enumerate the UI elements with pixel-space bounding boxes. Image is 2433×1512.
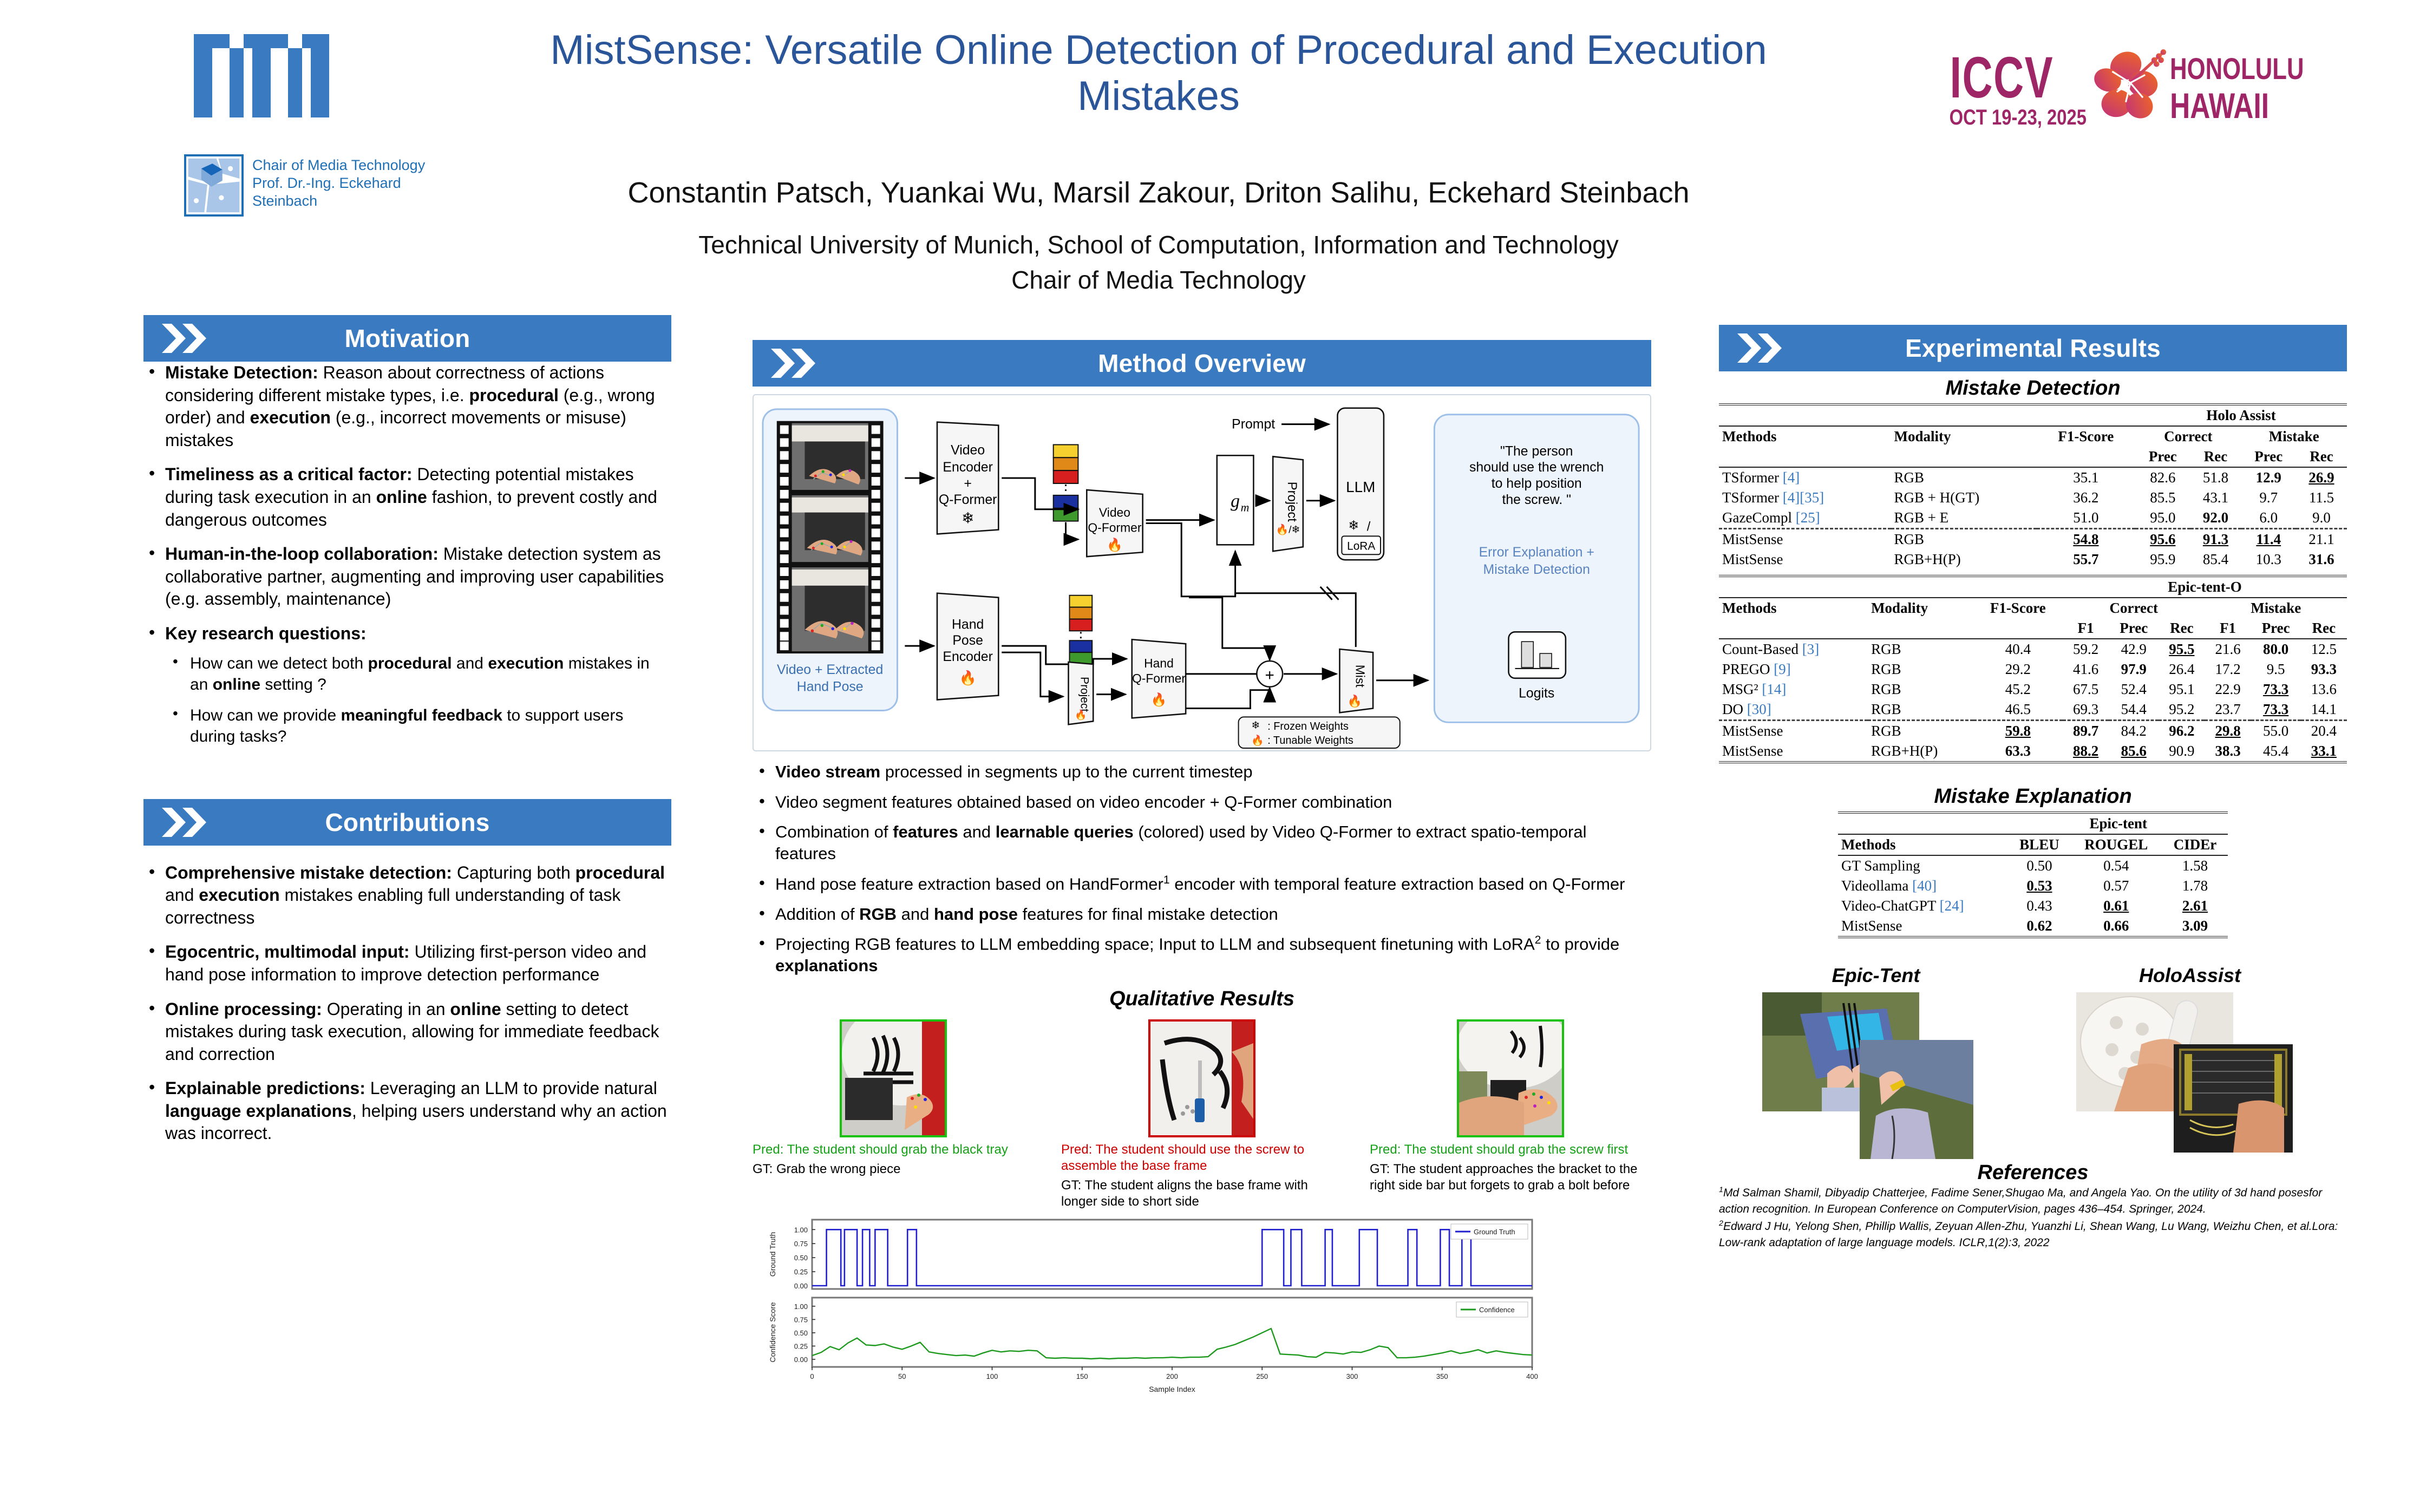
chair-of-media-technology-logo: Chair of Media Technology Prof. Dr.-Ing.… [184,154,487,235]
table-cell-method: DO [30] [1719,699,1868,721]
reference-entry: 2Edward J Hu, Yelong Shen, Phillip Walli… [1719,1218,2347,1252]
svg-text:Pose: Pose [952,633,983,648]
svg-text:50: 50 [898,1372,906,1380]
motivation-sub-question-list: How can we detect both procedural and ex… [165,653,671,747]
author-list: Constantin Patsch, Yuankai Wu, Marsil Za… [466,176,1852,210]
svg-text:+: + [964,476,972,491]
motivation-bullet: Human-in-the-loop collaboration: Mistake… [143,543,671,611]
method-overview-diagram: Video + Extracted Hand Pose Video Encode… [753,394,1651,751]
table-cell-method: MistSense [1719,549,1891,570]
dataset-group-label: Holo Assist [2135,404,2347,426]
holoassist-image-stack [2071,992,2309,1155]
qualitative-frame-image [840,1019,947,1137]
qualitative-results-row: Pred: The student should grab the black … [753,1019,1651,1210]
svg-text:0.00: 0.00 [794,1282,808,1290]
table-cell-method: MistSense [1719,529,1891,550]
svg-text:Error Explanation +: Error Explanation + [1479,545,1594,560]
table-row: DO [30]RGB46.569.354.495.223.773.314.1 [1719,699,2347,721]
motivation-sub-question: How can we detect both procedural and ex… [165,653,671,695]
svg-text:🔥/❄: 🔥/❄ [1276,523,1300,535]
svg-text:❄: ❄ [1348,518,1359,533]
svg-text:Hand: Hand [1144,656,1174,670]
table-row: MistSenseRGB54.895.691.311.421.1 [1719,529,2347,550]
table-cell-modality: RGB + H(GT) [1891,488,2037,508]
diagram-input-caption-line2: Hand Pose [797,680,864,695]
svg-text:1.00: 1.00 [794,1302,808,1311]
svg-text:🔥: 🔥 [1075,709,1087,720]
dataset-holoassist: HoloAssist [2071,964,2309,1155]
table-row: MistSenseRGB+H(P)63.388.285.690.938.345.… [1719,741,2347,762]
svg-text:Video: Video [951,443,985,457]
table-cell-method: GT Sampling [1838,855,2009,876]
reference-entry: 1Md Salman Shamil, Dibyadip Chatterjee, … [1719,1184,2347,1218]
qualitative-frame-image [1457,1019,1564,1137]
method-bullet: Addition of RGB and hand pose features f… [753,904,1651,925]
table-row: Videollama [40]0.530.571.78 [1838,876,2228,896]
motivation-bullet-list: Mistake Detection: Reason about correctn… [143,362,671,747]
svg-text:Ground Truth: Ground Truth [1474,1228,1515,1236]
qualitative-result-item: Pred: The student should use the screw t… [1061,1019,1343,1210]
dataset-label-holoassist: HoloAssist [2071,964,2309,987]
svg-text:150: 150 [1076,1372,1088,1380]
table-cell-modality: RGB [1868,699,1973,721]
svg-text:0.75: 0.75 [794,1240,808,1248]
svg-text:🔥: 🔥 [959,670,977,686]
table-subheader-row: PrecRecPrecRec [1719,447,2347,467]
cmt-logo-text: Chair of Media Technology Prof. Dr.-Ing.… [252,154,425,210]
table-cell-method: MistSense [1838,916,2009,937]
svg-text:Hand: Hand [952,617,984,632]
svg-text:Q-Former: Q-Former [1132,671,1186,685]
motivation-bullet: Mistake Detection: Reason about correctn… [143,362,671,451]
contribution-bullet: Comprehensive mistake detection: Capturi… [143,862,671,930]
table-row: MSG² [14]RGB45.267.552.495.122.973.313.6 [1719,679,2347,699]
svg-text:Mist: Mist [1353,665,1367,688]
qualitative-frame-image [1148,1019,1255,1137]
qualitative-groundtruth-text: GT: The student approaches the bracket t… [1370,1161,1651,1194]
qualitative-prediction-text: Pred: The student should grab the black … [753,1142,1034,1158]
dataset-epic-tent: Epic-Tent [1757,964,1995,1155]
svg-text:+: + [1265,666,1274,684]
table-cell-modality: RGB [1891,529,2037,550]
epic-tent-image-stack [1757,992,1995,1155]
svg-text:Sample Index: Sample Index [1149,1385,1195,1393]
svg-text:1.00: 1.00 [794,1226,808,1234]
svg-text:Confidence Score: Confidence Score [768,1302,777,1363]
svg-text:❄: ❄ [1251,720,1260,731]
svg-text:Q-Former: Q-Former [939,493,997,507]
chevron-right-icon [753,348,834,379]
section-title-method-overview: Method Overview [834,349,1651,378]
table-cell-method: Count-Based [3] [1719,639,1868,659]
svg-text:Confidence: Confidence [1479,1306,1515,1314]
table-cell-method: MistSense [1719,721,1868,742]
section-header-experimental-results: Experimental Results [1719,325,2347,371]
chevron-right-icon [1719,332,1800,364]
motivation-sub-question: How can we provide meaningful feedback t… [165,705,671,747]
svg-text:400: 400 [1526,1372,1538,1380]
table-row: MistSenseRGB+H(P)55.795.985.410.331.6 [1719,549,2347,570]
dataset-label-epic-tent: Epic-Tent [1757,964,1995,987]
affiliation-line-2: Chair of Media Technology [466,265,1852,294]
svg-text:: Frozen Weights: : Frozen Weights [1267,721,1349,732]
dataset-examples-row: Epic-Tent [1719,964,2347,1155]
method-bullet: Combination of features and learnable qu… [753,821,1651,864]
table-cell-method: MistSense [1719,741,1868,762]
method-bullet-list: Video stream processed in segments up to… [753,761,1651,977]
table-cell-method: MSG² [14] [1719,679,1868,699]
section-title-motivation: Motivation [225,324,671,353]
page-title: MistSense: Versatile Online Detection of… [466,27,1852,119]
svg-text:HONOLULU: HONOLULU [2170,52,2304,86]
contribution-bullet: Explainable predictions: Leveraging an L… [143,1077,671,1145]
qualitative-groundtruth-text: GT: Grab the wrong piece [753,1161,1034,1177]
qualitative-result-item: Pred: The student should grab the screw … [1370,1019,1651,1210]
table-header-row: MethodsModalityF1-ScoreCorrectMistake [1719,426,2347,447]
svg-text:❄: ❄ [962,510,974,527]
table-cell-method: GazeCompl [25] [1719,508,1891,529]
contribution-bullet: Online processing: Operating in an onlin… [143,998,671,1066]
chevron-right-icon [143,323,225,354]
qualitative-prediction-text: Pred: The student should use the screw t… [1061,1142,1343,1174]
table-row: Video-ChatGPT [24]0.430.612.61 [1838,896,2228,916]
table-cell-modality: RGB + E [1891,508,2037,529]
svg-text:"The person: "The person [1500,444,1573,459]
svg-text:to help position: to help position [1492,476,1582,491]
svg-text:200: 200 [1166,1372,1178,1380]
svg-text:0.50: 0.50 [794,1329,808,1337]
svg-text:Project: Project [1078,677,1090,712]
table-header-row: MethodsBLEUROUGELCIDEr [1838,834,2228,855]
table-cell-modality: RGB+H(P) [1868,741,1973,762]
table-cell-method: TSformer [4][35] [1719,488,1891,508]
table-header-row: MethodsModalityF1-ScoreCorrectMistake [1719,598,2347,618]
table-cell-method: PREGO [9] [1719,659,1868,679]
method-bullet: Hand pose feature extraction based on Ha… [753,873,1651,895]
table-row: MistSense0.620.663.09 [1838,916,2228,937]
svg-text:Project: Project [1285,482,1299,522]
table-row: Count-Based [3]RGB40.459.242.995.521.680… [1719,639,2347,659]
svg-text:HAWAII: HAWAII [2170,86,2269,126]
svg-text:🔥: 🔥 [1348,695,1362,708]
svg-text:0.75: 0.75 [794,1315,808,1324]
svg-text:g: g [1231,492,1240,512]
contribution-bullet: Egocentric, multimodal input: Utilizing … [143,941,671,986]
mistake-explanation-caption: Mistake Explanation [1719,785,2347,808]
table-cell-modality: RGB [1868,639,1973,659]
qualitative-prediction-text: Pred: The student should grab the screw … [1370,1142,1651,1158]
svg-text:0: 0 [810,1372,814,1380]
table-row: TSformer [4][35]RGB + H(GT)36.285.543.19… [1719,488,2347,508]
svg-text:Logits: Logits [1519,686,1554,701]
table-cell-method: Videollama [40] [1838,876,2009,896]
section-title-experimental-results: Experimental Results [1800,333,2347,363]
tum-logo [191,30,369,122]
svg-text:Video: Video [1099,506,1130,520]
method-bullet: Projecting RGB features to LLM embedding… [753,933,1651,977]
svg-text:/: / [1367,519,1371,534]
motivation-bullet: Key research questions:How can we detect… [143,623,671,747]
svg-text:LLM: LLM [1346,479,1375,495]
dataset-group-label: Epic-tent-O [2063,576,2347,598]
svg-text:Encoder: Encoder [943,650,992,664]
table-cell-modality: RGB [1891,467,2037,488]
holoassist-results-table: Holo AssistMethodsModalityF1-ScoreCorrec… [1719,403,2347,570]
svg-text:Prompt: Prompt [1232,417,1275,432]
table-subheader-row: F1PrecRecF1PrecRec [1719,618,2347,639]
cmt-line-2: Prof. Dr.-Ing. Eckehard [252,174,425,192]
svg-text:0.25: 0.25 [794,1268,808,1276]
svg-text:m: m [1241,501,1250,514]
svg-text:🔥: 🔥 [1107,537,1123,552]
section-header-contributions: Contributions [143,799,671,846]
cmt-line-1: Chair of Media Technology [252,156,425,174]
svg-text:: Tunable Weights: : Tunable Weights [1267,735,1353,747]
contributions-bullet-list: Comprehensive mistake detection: Capturi… [143,862,671,1146]
references-body: 1Md Salman Shamil, Dibyadip Chatterjee, … [1719,1184,2347,1252]
svg-text:should use the wrench: should use the wrench [1469,460,1604,475]
iccv-conference-logo: ICCV OCT 19-23, 2025 HONOLULU HAWAII [1944,32,2323,135]
svg-text:250: 250 [1256,1372,1268,1380]
svg-text:Mistake Detection: Mistake Detection [1483,562,1590,577]
svg-text:0.25: 0.25 [794,1342,808,1350]
cmt-line-3: Steinbach [252,192,425,210]
svg-text:0.00: 0.00 [794,1356,808,1364]
svg-text:Q-Former: Q-Former [1088,520,1141,534]
table-row: TSformer [4]RGB35.182.651.812.926.9 [1719,467,2347,488]
table-group-header-row: Holo Assist [1719,404,2347,426]
svg-text:LoRA: LoRA [1347,540,1375,552]
diagram-input-caption-line1: Video + Extracted [777,663,883,677]
section-header-method-overview: Method Overview [753,340,1651,387]
table-cell-modality: RGB [1868,679,1973,699]
affiliation-line-1: Technical University of Munich, School o… [466,230,1852,259]
timeline-charts: 0.000.250.500.751.00Ground TruthGround T… [753,1215,1570,1394]
qualitative-result-item: Pred: The student should grab the black … [753,1019,1034,1210]
table-row: GazeCompl [25]RGB + E51.095.092.06.09.0 [1719,508,2347,529]
table-cell-modality: RGB+H(P) [1891,549,2037,570]
table-row: MistSenseRGB59.889.784.296.229.855.020.4 [1719,721,2347,742]
chevron-right-icon [143,807,225,838]
table-cell-modality: RGB [1868,721,1973,742]
svg-text:🔥: 🔥 [1251,734,1264,747]
svg-text:100: 100 [986,1372,998,1380]
table-row: PREGO [9]RGB29.241.697.926.417.29.593.3 [1719,659,2347,679]
references-title: References [1719,1161,2347,1184]
cmt-logo-mark [184,154,244,217]
epictent-o-results-table: Epic-tent-OMethodsModalityF1-ScoreCorrec… [1719,575,2347,763]
dataset-group-label: Epic-tent [2009,813,2228,834]
svg-text:Encoder: Encoder [943,460,992,475]
svg-text:🔥: 🔥 [1151,692,1167,708]
svg-text:the screw. ": the screw. " [1502,493,1571,507]
motivation-bullet: Timeliness as a critical factor: Detecti… [143,463,671,531]
table-cell-method: Video-ChatGPT [24] [1838,896,2009,916]
mistake-detection-caption: Mistake Detection [1719,377,2347,400]
table-group-header-row: Epic-tent-O [1719,576,2347,598]
table-group-header-row: Epic-tent [1838,813,2228,834]
table-cell-modality: RGB [1868,659,1973,679]
section-header-motivation: Motivation [143,315,671,362]
method-bullet: Video stream processed in segments up to… [753,761,1651,783]
qualitative-results-title: Qualitative Results [753,987,1651,1011]
svg-text:OCT 19-23, 2025: OCT 19-23, 2025 [1950,105,2087,129]
section-title-contributions: Contributions [225,808,671,837]
svg-text:300: 300 [1346,1372,1358,1380]
mistake-explanation-table: Epic-tentMethodsBLEUROUGELCIDErGT Sampli… [1838,811,2228,938]
svg-text:ICCV: ICCV [1950,44,2054,110]
method-bullet: Video segment features obtained based on… [753,791,1651,813]
table-cell-method: TSformer [4] [1719,467,1891,488]
svg-text:0.50: 0.50 [794,1254,808,1262]
svg-text:350: 350 [1436,1372,1448,1380]
svg-text:Ground Truth: Ground Truth [768,1232,777,1277]
qualitative-groundtruth-text: GT: The student aligns the base frame wi… [1061,1177,1343,1210]
table-row: GT Sampling0.500.541.58 [1838,855,2228,876]
